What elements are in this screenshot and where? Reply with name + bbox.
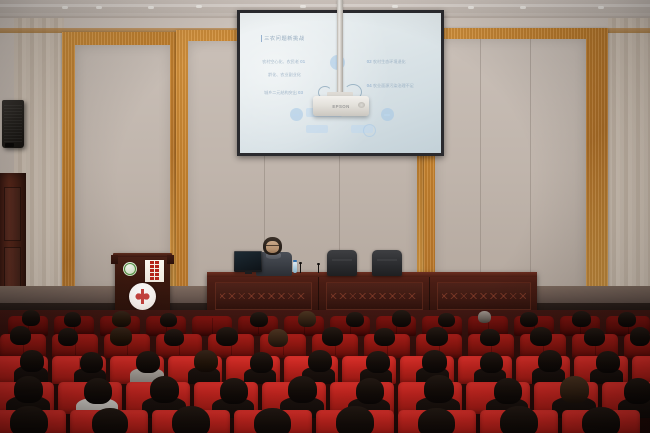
attendee-head: [84, 378, 112, 404]
attendee-head: [20, 350, 44, 372]
attendee-head: [110, 327, 132, 346]
microphone-stand: [318, 265, 319, 273]
slide-title: 三农问题新挑战: [264, 35, 305, 42]
attendee-head: [220, 378, 248, 404]
attendee-head: [150, 376, 179, 403]
attendee-head: [112, 311, 131, 327]
attendee-head: [624, 378, 650, 404]
wall-panel-right: [435, 39, 586, 298]
attendee-head: [426, 327, 448, 346]
stage-chair[interactable]: [327, 250, 357, 276]
monitor-stand: [245, 271, 252, 274]
attendee-head: [584, 328, 605, 346]
microphone-head-icon: [317, 263, 320, 265]
attendee-head: [136, 351, 160, 373]
podium: [115, 253, 170, 315]
attendee-head: [530, 327, 552, 346]
attendee-head: [250, 352, 273, 373]
stage-chair[interactable]: [372, 250, 402, 276]
attendee-head: [58, 328, 78, 346]
eyeglasses-icon: [266, 245, 279, 248]
attendee-head: [500, 406, 538, 433]
attendee-head: [216, 327, 238, 346]
attendee-head: [478, 311, 491, 323]
attendee-head: [630, 327, 650, 346]
attendee-head: [172, 406, 210, 433]
slide-item-5: 04 农业面源污染治理不足: [367, 83, 414, 89]
table-panel: [326, 282, 423, 310]
attendee-head: [560, 376, 589, 403]
slide-item-4: 02 农村生态环境退化: [367, 59, 406, 65]
wall-plank-band-right: [608, 18, 650, 318]
anniversary-emblem-icon: [129, 283, 156, 310]
attendee-head: [494, 378, 522, 404]
table-panel: [437, 282, 531, 310]
attendee-head: [308, 350, 332, 372]
attendee-head: [356, 378, 384, 404]
attendee-head: [520, 312, 538, 327]
attendee-head: [298, 311, 316, 327]
attendee-head: [160, 313, 177, 327]
attendee-head: [80, 352, 103, 373]
projector: EPSON: [313, 96, 369, 116]
university-seal-icon: [123, 262, 137, 276]
attendee-head: [572, 311, 591, 327]
projector-lens: [358, 102, 365, 108]
table-panel: [215, 282, 312, 310]
slide-item-3: 城乡二元结构突出 03: [264, 90, 303, 96]
attendee-head: [374, 328, 395, 346]
attendee-head: [250, 312, 268, 327]
attendee-head: [618, 312, 636, 327]
slide-item-1: 农村空心化、农民老 01: [262, 59, 305, 65]
attendee-head: [92, 408, 128, 433]
attendee-head: [22, 310, 40, 326]
slide-item-2: 龄化、农业副业化: [268, 72, 301, 78]
attendee-head: [268, 329, 288, 347]
attendee-head: [10, 406, 48, 433]
microphone-head-icon: [299, 262, 302, 264]
attendee-head: [392, 310, 411, 327]
loudspeaker-icon: [2, 100, 24, 148]
attendee-head: [366, 351, 390, 373]
attendee-head: [582, 407, 620, 433]
attendee-head: [64, 312, 81, 327]
head-table: [207, 272, 537, 314]
attendee-head: [346, 312, 364, 327]
attendee-head: [480, 329, 500, 346]
projector-mount-pole: [337, 0, 343, 97]
desktop-monitor: [234, 251, 262, 272]
audience-area: [0, 310, 650, 433]
attendee-head: [194, 350, 218, 372]
attendee-head: [480, 352, 503, 373]
attendee-head: [10, 326, 31, 345]
attendee-head: [14, 376, 43, 403]
attendee-head: [418, 408, 455, 433]
water-bottle: [293, 262, 297, 273]
attendee-head: [288, 376, 317, 403]
attendee-head: [596, 351, 620, 373]
attendee-head: [164, 329, 184, 346]
attendee-head: [538, 350, 562, 372]
auditorium-photo: 三农问题新挑战 农村空心化、农民老 01 龄化、农业副业化 城乡二元结构突出 0…: [0, 0, 650, 433]
attendee-head: [322, 327, 343, 346]
attendee-head: [422, 350, 447, 373]
microphone-stand: [300, 264, 301, 273]
slide-title-accent: [261, 35, 263, 42]
attendee-head: [336, 406, 374, 433]
attendee-head: [438, 313, 455, 327]
podium-banner: [145, 260, 164, 282]
wall-panel-frame-right: [424, 28, 608, 312]
attendee-head: [424, 375, 454, 403]
attendee-head: [254, 408, 291, 433]
